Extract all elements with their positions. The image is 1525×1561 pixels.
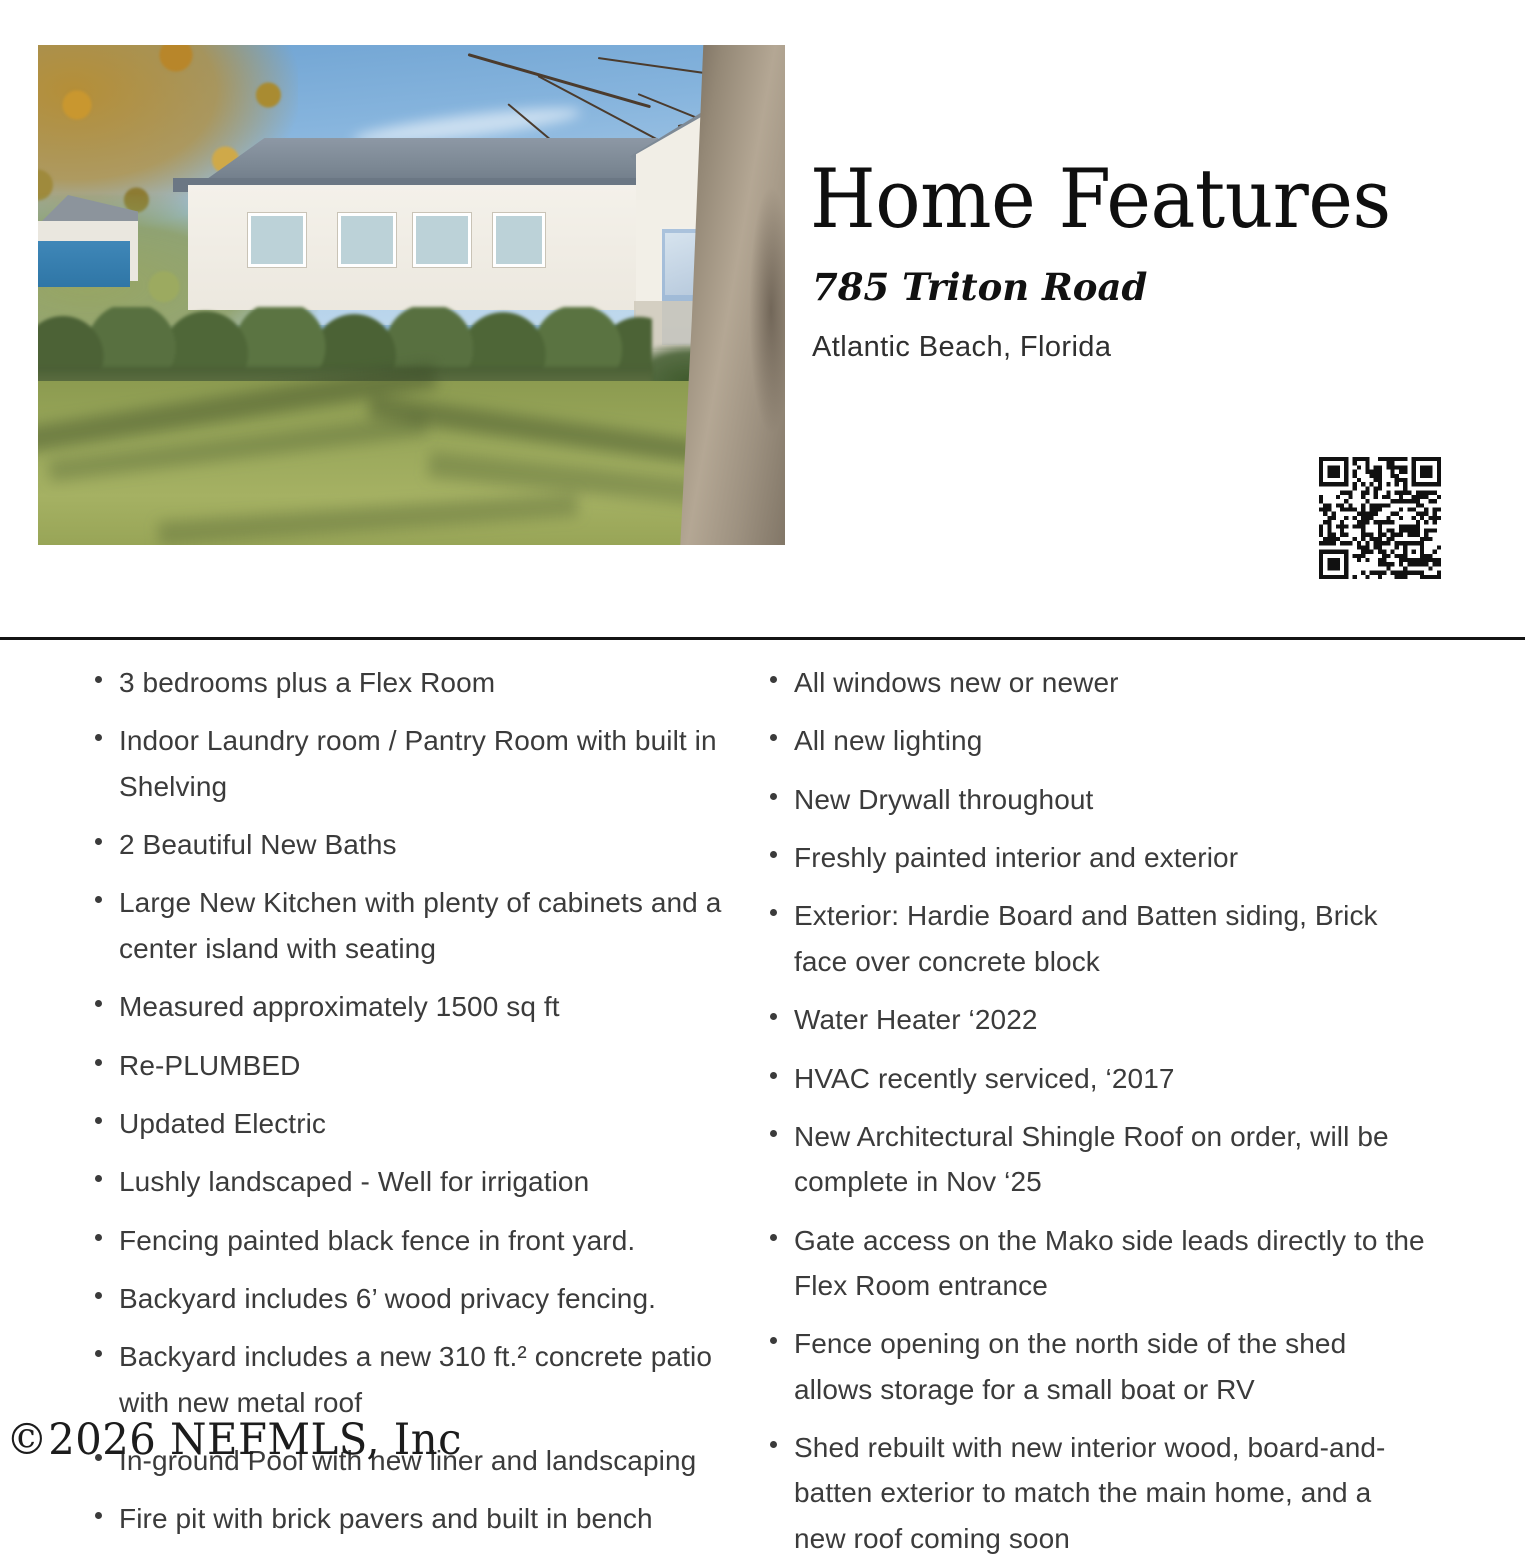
feature-item: All windows new or newer <box>765 660 1425 705</box>
feature-list-right: All windows new or newerAll new lighting… <box>765 660 1525 1561</box>
copyright-watermark: ©2026 NEFMLS, Inc <box>6 1415 462 1465</box>
page-title: Home Features <box>810 160 1405 241</box>
feature-item: New Architectural Shingle Roof on order,… <box>765 1114 1425 1205</box>
feature-item: Indoor Laundry room / Pantry Room with b… <box>90 718 730 809</box>
feature-item: Fence opening on the north side of the s… <box>765 1321 1425 1412</box>
property-address: 785 Triton Road <box>812 265 1450 309</box>
window <box>413 213 471 267</box>
feature-item: Re-PLUMBED <box>90 1043 730 1088</box>
feature-item: Freshly painted interior and exterior <box>765 835 1425 880</box>
feature-item: Measured approximately 1500 sq ft <box>90 984 730 1029</box>
feature-list-left: 3 bedrooms plus a Flex RoomIndoor Laundr… <box>90 660 760 1542</box>
feature-item: Backyard includes a new 310 ft.² concret… <box>90 1334 730 1425</box>
feature-item: Fencing painted black fence in front yar… <box>90 1218 730 1263</box>
title-block: Home Features 785 Triton Road Atlantic B… <box>810 160 1450 364</box>
feature-item: All new lighting <box>765 718 1425 763</box>
feature-item: Gate access on the Mako side leads direc… <box>765 1218 1425 1309</box>
feature-item: Large New Kitchen with plenty of cabinet… <box>90 880 730 971</box>
neighbor-blue-siding <box>38 241 130 287</box>
window <box>493 213 545 267</box>
feature-item: 3 bedrooms plus a Flex Room <box>90 660 730 705</box>
property-photo: 785 <box>38 45 785 545</box>
feature-item: Water Heater ‘2022 <box>765 997 1425 1042</box>
feature-item: Exterior: Hardie Board and Batten siding… <box>765 893 1425 984</box>
feature-item: Backyard includes 6’ wood privacy fencin… <box>90 1276 730 1321</box>
feature-item: New Drywall throughout <box>765 777 1425 822</box>
tree-trunk-shadow <box>749 185 785 435</box>
property-city-state: Atlantic Beach, Florida <box>812 331 1450 364</box>
feature-item: Updated Electric <box>90 1101 730 1146</box>
feature-item: 2 Beautiful New Baths <box>90 822 730 867</box>
window <box>248 213 306 267</box>
feature-item: Shed rebuilt with new interior wood, boa… <box>765 1425 1425 1561</box>
section-divider <box>0 637 1525 640</box>
features-left-column: 3 bedrooms plus a Flex RoomIndoor Laundr… <box>0 660 760 1440</box>
features-section: 3 bedrooms plus a Flex RoomIndoor Laundr… <box>0 660 1525 1440</box>
feature-item: HVAC recently serviced, ‘2017 <box>765 1056 1425 1101</box>
qr-code[interactable] <box>1319 457 1441 579</box>
feature-item: Lushly landscaped - Well for irrigation <box>90 1159 730 1204</box>
window <box>338 213 396 267</box>
features-right-column: All windows new or newerAll new lighting… <box>760 660 1525 1440</box>
feature-item: Fire pit with brick pavers and built in … <box>90 1496 730 1541</box>
qr-code-image <box>1319 457 1441 579</box>
flyer-header: 785 Home Features 785 Triton Road <box>0 0 1525 639</box>
